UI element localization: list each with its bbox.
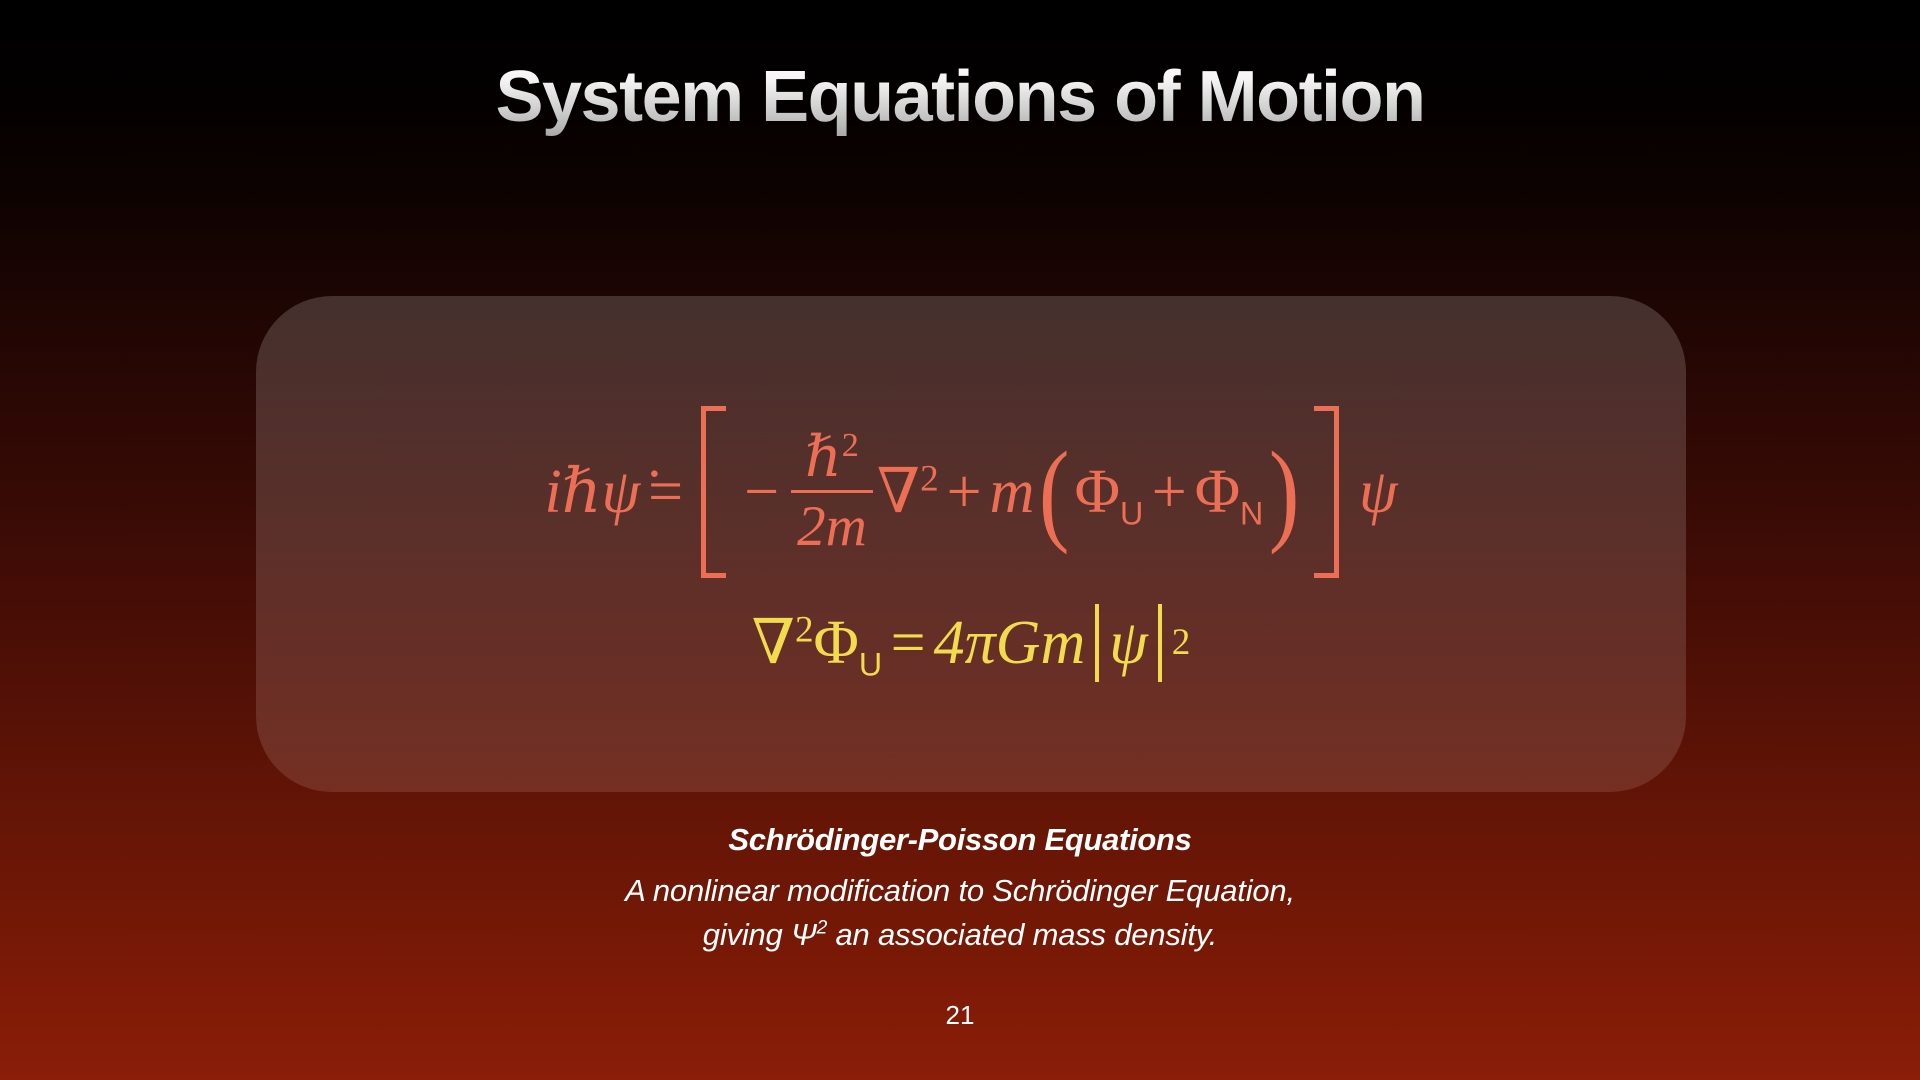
symbol-hbar-num: ℏ bbox=[805, 426, 842, 489]
laplacian-exponent: 2 bbox=[920, 458, 939, 499]
symbol-gravitational-constant: G bbox=[996, 612, 1041, 674]
laplacian-operator: ∇2 bbox=[877, 461, 939, 523]
bracket-right bbox=[1314, 406, 1339, 578]
coefficient-four: 4 bbox=[934, 612, 965, 674]
nabla-icon: ∇ bbox=[877, 458, 920, 526]
subscript-n: N bbox=[1240, 495, 1264, 531]
symbol-phi-2: Φ bbox=[1195, 458, 1240, 526]
operator-minus: − bbox=[744, 461, 779, 523]
caption-line-2-suffix: an associated mass density. bbox=[827, 917, 1217, 952]
fraction-hbar-squared-over-2m: ℏ2 2m bbox=[791, 428, 873, 557]
caption-block: Schrödinger-Poisson Equations A nonlinea… bbox=[0, 822, 1920, 957]
bracket-contents: − ℏ2 2m ∇2 + m ( ΦU + ΦN ) bbox=[736, 406, 1304, 578]
caption-line-2: giving Ψ2 an associated mass density. bbox=[0, 913, 1920, 957]
nabla-icon-2: ∇ bbox=[752, 609, 795, 677]
caption-line-2-superscript: 2 bbox=[817, 918, 827, 939]
subscript-u: U bbox=[1120, 495, 1144, 531]
modulus-bar-right bbox=[1158, 604, 1162, 682]
poisson-phi-u: ΦU bbox=[814, 612, 883, 674]
fraction-denominator: 2m bbox=[791, 490, 873, 557]
poisson-laplacian-exponent: 2 bbox=[795, 609, 814, 650]
symbol-mass: m bbox=[990, 461, 1035, 523]
caption-heading: Schrödinger-Poisson Equations bbox=[0, 822, 1920, 858]
symbol-i: i bbox=[544, 461, 561, 523]
operator-equals-poisson: = bbox=[891, 612, 926, 674]
symbol-mass-poisson: m bbox=[1040, 612, 1085, 674]
equation-poisson: ∇2 ΦU = 4 π G m ψ 2 bbox=[752, 604, 1191, 682]
symbol-psi-poisson: ψ bbox=[1109, 612, 1148, 674]
page-title: System Equations of Motion bbox=[0, 58, 1920, 137]
exponent-two: 2 bbox=[842, 427, 859, 464]
paren-close: ) bbox=[1269, 451, 1300, 534]
paren-open: ( bbox=[1039, 451, 1070, 534]
equation-stack: i ℏ ψ̇ = − ℏ2 2m ∇2 + m bbox=[256, 296, 1686, 792]
modulus-bar-left bbox=[1095, 604, 1099, 682]
schrodinger-lhs: i ℏ ψ̇ = bbox=[544, 461, 691, 523]
equation-card: i ℏ ψ̇ = − ℏ2 2m ∇2 + m bbox=[256, 296, 1686, 792]
equation-schrodinger: i ℏ ψ̇ = − ℏ2 2m ∇2 + m bbox=[544, 406, 1397, 578]
bracket-group: − ℏ2 2m ∇2 + m ( ΦU + ΦN ) bbox=[691, 406, 1349, 578]
potential-phi-u: ΦU bbox=[1075, 461, 1144, 523]
symbol-phi: Φ bbox=[1075, 458, 1120, 526]
poisson-laplacian: ∇2 bbox=[752, 612, 814, 674]
symbol-psi-trailing: ψ bbox=[1359, 461, 1398, 523]
slide-canvas: System Equations of Motion i ℏ ψ̇ = − ℏ2 bbox=[0, 0, 1920, 1080]
symbol-phi-poisson: Φ bbox=[814, 609, 859, 677]
symbol-psi-dot: ψ̇ bbox=[602, 461, 641, 523]
symbol-pi: π bbox=[965, 612, 996, 674]
caption-line-1: A nonlinear modification to Schrödinger … bbox=[0, 869, 1920, 913]
bracket-left bbox=[701, 406, 726, 578]
page-number: 21 bbox=[0, 1000, 1920, 1031]
potential-phi-n: ΦN bbox=[1195, 461, 1264, 523]
fraction-numerator: ℏ2 bbox=[799, 428, 865, 490]
operator-inner-plus: + bbox=[1152, 461, 1187, 523]
subscript-u-poisson: U bbox=[859, 646, 883, 682]
caption-line-2-prefix: giving Ψ bbox=[703, 917, 817, 952]
symbol-hbar: ℏ bbox=[562, 461, 602, 523]
operator-plus: + bbox=[947, 461, 982, 523]
operator-equals: = bbox=[648, 461, 683, 523]
